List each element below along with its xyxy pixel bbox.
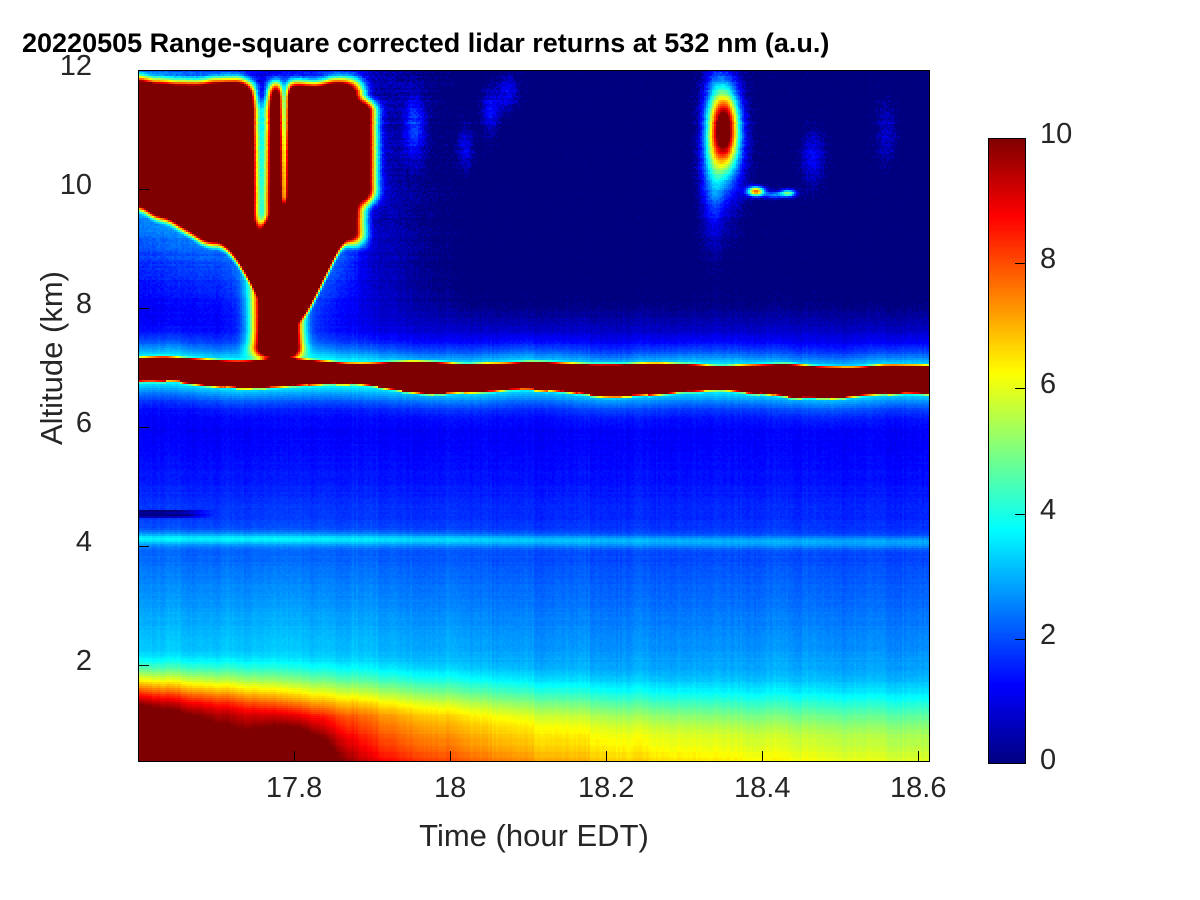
x-tick-mark xyxy=(762,751,763,762)
x-tick-label: 18 xyxy=(390,772,510,805)
y-tick-label: 4 xyxy=(76,526,92,559)
colorbar-tick-label: 6 xyxy=(1040,368,1056,401)
y-tick-label: 2 xyxy=(76,645,92,678)
y-tick-label: 6 xyxy=(76,407,92,440)
y-tick-mark xyxy=(138,70,149,71)
colorbar-tick-label: 0 xyxy=(1040,744,1056,777)
page-title: 20220505 Range-square corrected lidar re… xyxy=(22,28,829,59)
colorbar-tick-label: 8 xyxy=(1040,243,1056,276)
x-tick-mark xyxy=(918,751,919,762)
y-tick-label: 8 xyxy=(76,288,92,321)
lidar-figure: 20220505 Range-square corrected lidar re… xyxy=(0,0,1200,900)
x-tick-label: 17.8 xyxy=(234,772,354,805)
x-tick-label: 18.2 xyxy=(546,772,666,805)
y-tick-mark xyxy=(138,308,149,309)
y-tick-mark xyxy=(138,665,149,666)
heatmap-plot[interactable] xyxy=(138,70,930,762)
x-tick-label: 18.6 xyxy=(858,772,978,805)
colorbar-tick-mark xyxy=(1015,639,1026,640)
y-axis-label: Altitude (km) xyxy=(34,248,70,468)
x-tick-label: 18.4 xyxy=(702,772,822,805)
y-tick-label: 10 xyxy=(60,169,92,202)
x-tick-mark xyxy=(606,751,607,762)
colorbar-tick-mark xyxy=(1015,263,1026,264)
colorbar[interactable] xyxy=(988,138,1026,764)
colorbar-tick-mark xyxy=(1015,388,1026,389)
x-tick-mark xyxy=(450,751,451,762)
y-tick-mark xyxy=(138,189,149,190)
colorbar-tick-label: 2 xyxy=(1040,619,1056,652)
y-tick-label: 12 xyxy=(60,50,92,83)
x-tick-mark xyxy=(294,751,295,762)
colorbar-tick-label: 10 xyxy=(1040,118,1072,151)
y-tick-mark xyxy=(138,427,149,428)
colorbar-tick-label: 4 xyxy=(1040,494,1056,527)
x-axis-label: Time (hour EDT) xyxy=(138,818,930,854)
colorbar-tick-mark xyxy=(1015,514,1026,515)
y-tick-mark xyxy=(138,546,149,547)
